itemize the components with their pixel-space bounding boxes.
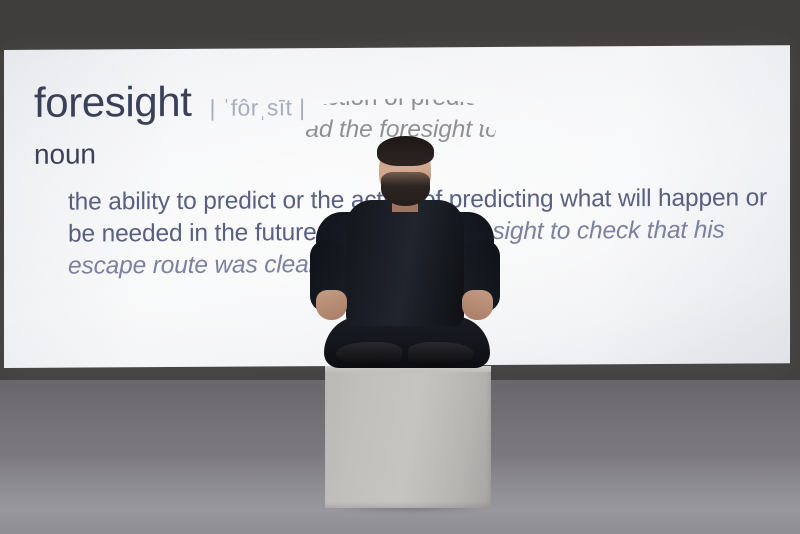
entry-pronunciation: | ˈfôrˌsīt |	[210, 94, 306, 122]
entry-headword: foresight	[34, 81, 192, 125]
photo-scene: foresight | ˈfôrˌsīt | noun the ability …	[0, 0, 800, 534]
concrete-plinth	[325, 366, 491, 508]
plinth-top-face	[325, 366, 491, 372]
definition-period: .	[317, 251, 324, 278]
definition-lead: the ability to predict	[68, 187, 276, 215]
entry-definition: the ability to predict or the action of …	[68, 182, 774, 283]
projection-screen: foresight | ˈfôrˌsīt | noun the ability …	[4, 45, 790, 368]
